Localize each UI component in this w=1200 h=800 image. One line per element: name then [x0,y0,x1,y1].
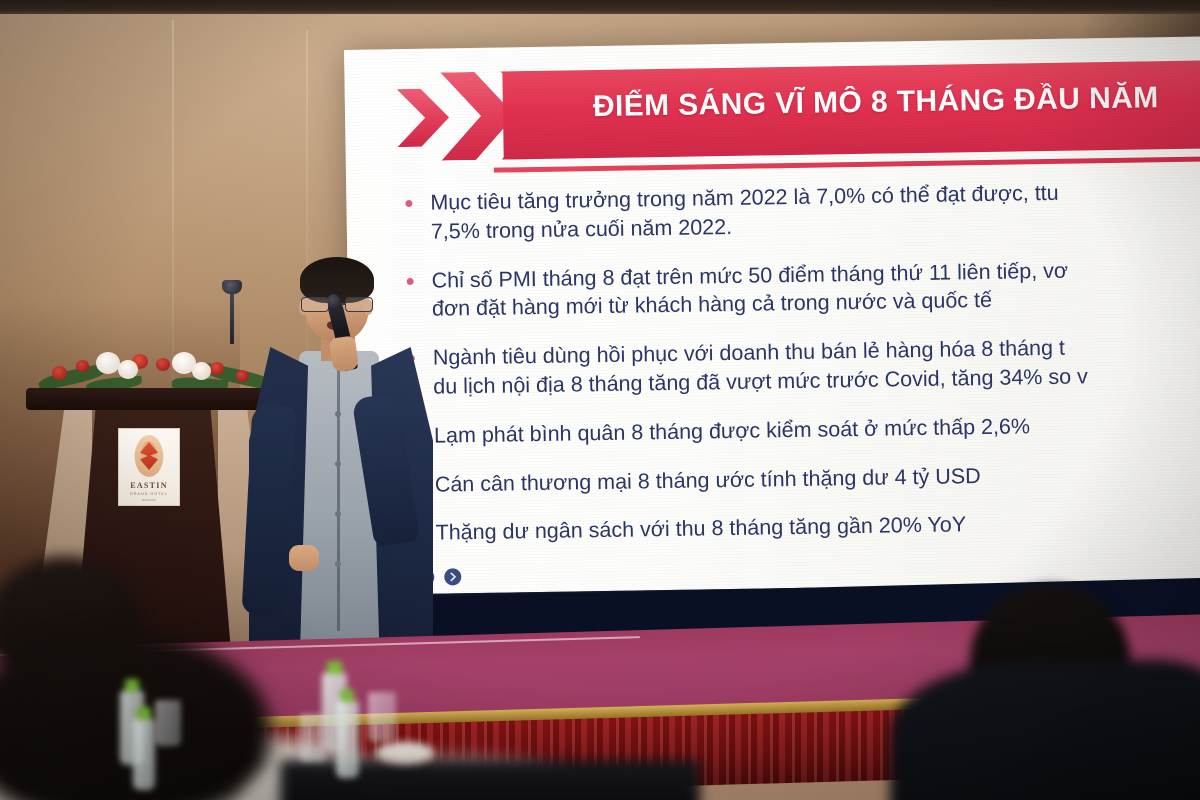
slide-bullet-list: Mục tiêu tăng trưởng trong năm 2022 là 7… [396,176,1200,558]
venue-logo-name: EASTIN [130,481,168,490]
list-item: Thặng dư ngân sách với thu 8 tháng tăng … [401,506,1200,548]
list-item: Mục tiêu tăng trưởng trong năm 2022 là 7… [396,176,1200,247]
bullet-dot-icon [405,200,412,207]
banner-underline [494,156,1200,172]
list-item: Lạm phát bình quân 8 tháng được kiểm soá… [400,408,1200,450]
list-item: Cán cân thương mại 8 tháng ước tính thặn… [401,457,1200,499]
presenter-hand-with-clicker [289,545,319,571]
microphone-stand [230,288,234,344]
conference-presentation-photo: ĐIỂM SÁNG VĨ MÔ 8 THÁNG ĐẦU NĂM Mục tiêu… [0,0,1200,800]
bullet-line: Cán cân thương mại 8 tháng ước tính thặn… [435,464,981,497]
list-item: Chỉ số PMI tháng 8 đạt trên mức 50 điểm … [397,253,1200,324]
slide-title-banner: ĐIỂM SÁNG VĨ MÔ 8 THÁNG ĐẦU NĂM [344,50,1200,176]
bullet-line: Thặng dư ngân sách với thu 8 tháng tăng … [435,513,966,545]
list-item: Ngành tiêu dùng hồi phục với doanh thu b… [399,331,1200,402]
venue-logo-tagline: BANGKOK [142,498,156,502]
presentation-slide: ĐIỂM SÁNG VĨ MÔ 8 THÁNG ĐẦU NĂM Mục tiêu… [344,36,1200,595]
podium-microphone-icon [222,280,242,294]
podium-top-surface [26,388,278,410]
presenter-hand-holding-mic [329,335,359,372]
eastin-diamond-icon [134,435,164,477]
venue-logo-subtitle: GRAND HOTEL [130,492,168,496]
bullet-line: Lạm phát bình quân 8 tháng được kiểm soá… [434,414,1030,447]
projection-screen: ĐIỂM SÁNG VĨ MÔ 8 THÁNG ĐẦU NĂM Mục tiêu… [344,36,1200,610]
venue-logo-plaque: EASTIN GRAND HOTEL BANGKOK [118,428,180,506]
